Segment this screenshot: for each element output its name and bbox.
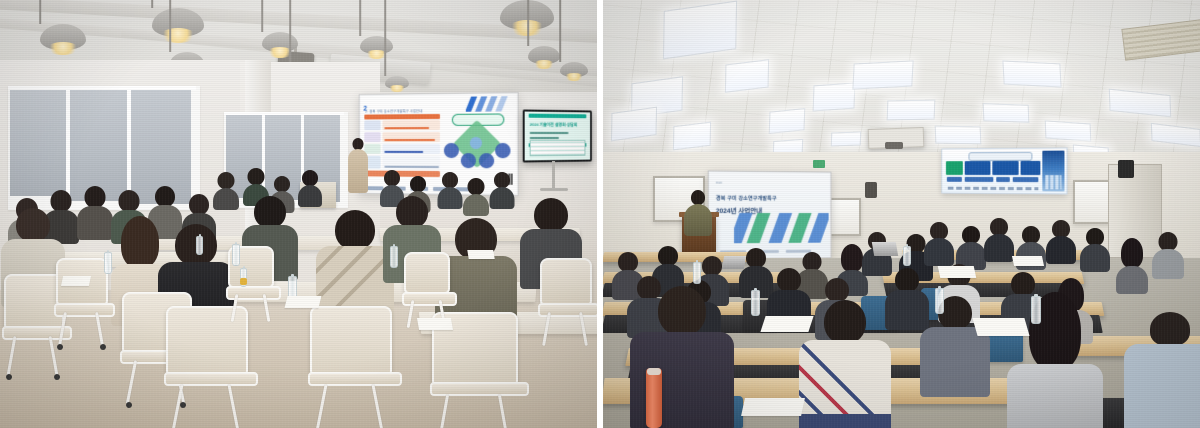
attendee-right (927, 222, 951, 262)
chair (404, 252, 450, 294)
banner-fine-print (948, 187, 1039, 191)
slide-node (461, 153, 476, 168)
attendee-right-front (819, 300, 871, 428)
ceiling-light-panel (887, 100, 936, 121)
paper-handout (61, 276, 91, 286)
tv-slide-table (530, 140, 586, 156)
water-bottle (196, 236, 203, 255)
slide-row-footer (364, 170, 440, 177)
speaker-right (685, 190, 711, 234)
attendee-front (330, 210, 380, 318)
panel-gutter (597, 0, 603, 428)
tv-stand-pole (552, 161, 555, 189)
banner-main-text (946, 161, 1040, 175)
ceiling-light-panel (935, 126, 982, 145)
ceiling-light-panel (1045, 120, 1092, 141)
water-bottle (232, 244, 240, 266)
slide-corner-tag: R&D (716, 181, 722, 185)
paper-handout (741, 398, 805, 416)
event-banner (941, 147, 1067, 194)
paper-handout (467, 250, 494, 259)
slide-pretitle: 경북 구미 강소연구개발특구 (716, 195, 777, 202)
attendee (492, 172, 512, 204)
attendee-right (1155, 232, 1181, 276)
slide-node (479, 153, 494, 168)
attendee-right (1083, 228, 1107, 268)
attendee-right (1119, 238, 1145, 282)
wall-speaker-secondary (865, 182, 877, 198)
water-bottle (751, 290, 760, 316)
attendee-right (1049, 220, 1073, 260)
banner-top-label (968, 151, 1032, 160)
tv-slide-content: 2024 기술이전 설명회·상담회 (525, 112, 590, 161)
attendee-right (987, 218, 1011, 258)
slide-content-right: R&D 경북 구미 강소연구개발특구 2024년 사업안내 (710, 172, 830, 257)
projection-screen-right: R&D 경북 구미 강소연구개발특구 2024년 사업안내 (708, 170, 832, 259)
attendee (82, 186, 108, 236)
attendee-right (743, 248, 769, 292)
slide-chevron-graphic (734, 213, 829, 243)
attendee-right (959, 226, 983, 266)
laptop (722, 256, 746, 269)
wall-mounted-tv-left: 2024 기술이전 설명회·상담회 (523, 109, 592, 162)
water-bottle (1031, 296, 1041, 324)
slide-left-table (364, 120, 440, 179)
exit-sign (813, 160, 825, 168)
ceiling-light-panel (769, 108, 806, 134)
attendee (300, 170, 320, 202)
paper-handout (285, 296, 322, 308)
left-photo-seminar-room: 2 2. 경북 구미 강소연구개발특구 사업안내 (0, 0, 597, 428)
projector-lens (885, 142, 903, 149)
presenter-left (348, 138, 368, 200)
water-bottle (390, 246, 398, 268)
slide-header-bar (364, 114, 440, 120)
slide-row (364, 156, 440, 169)
wall-speaker (1118, 160, 1134, 178)
attendee (440, 172, 460, 204)
tv-stand-base (540, 188, 568, 191)
ceiling-light-panel (1002, 60, 1061, 87)
chair (540, 258, 592, 306)
attendee (466, 178, 486, 210)
water-bottle (903, 246, 911, 266)
paper-handout (1012, 256, 1044, 266)
paper-handout (972, 318, 1029, 336)
ceiling-light-panel (813, 82, 856, 111)
attendee (216, 172, 236, 204)
banner-photo-panel (1042, 151, 1064, 192)
water-bottle (693, 262, 701, 284)
laptop (872, 242, 898, 256)
chair (4, 274, 64, 330)
slide-node (444, 143, 459, 158)
banner-sub-labels (947, 177, 1040, 182)
slide-row (364, 144, 440, 154)
cup (240, 278, 247, 285)
attendee-right-front (1143, 312, 1197, 428)
ceiling-light-panel (831, 131, 861, 146)
water-bottle (104, 252, 112, 274)
paper-handout (760, 316, 813, 332)
slide-node-center (470, 137, 482, 149)
right-photo-lecture-hall: R&D 경북 구미 강소연구개발특구 2024년 사업안내 (603, 0, 1200, 428)
chair (166, 306, 248, 376)
slide-node (495, 143, 510, 158)
ceiling-light-panel (852, 60, 913, 89)
water-bottle (935, 288, 944, 314)
attendee-right (891, 268, 923, 324)
thermos-tumbler (646, 368, 662, 428)
ceiling-light-panel (725, 59, 769, 93)
slide-row (364, 132, 440, 142)
tv-slide-title: 2024 기술이전 설명회·상담회 (530, 122, 578, 128)
ceiling-light-panel (983, 103, 1030, 123)
paper-handout (938, 266, 977, 278)
chair (310, 306, 392, 376)
paper-handout (417, 318, 453, 330)
slide-row (364, 120, 440, 130)
slide-title: 2. 경북 구미 강소연구개발특구 사업안내 (365, 108, 422, 113)
ceiling-light-panel (673, 122, 711, 151)
photo-pair-composite: 2 2. 경북 구미 강소연구개발특구 사업안내 (0, 0, 1200, 428)
slide-stripe-accent (466, 96, 511, 112)
